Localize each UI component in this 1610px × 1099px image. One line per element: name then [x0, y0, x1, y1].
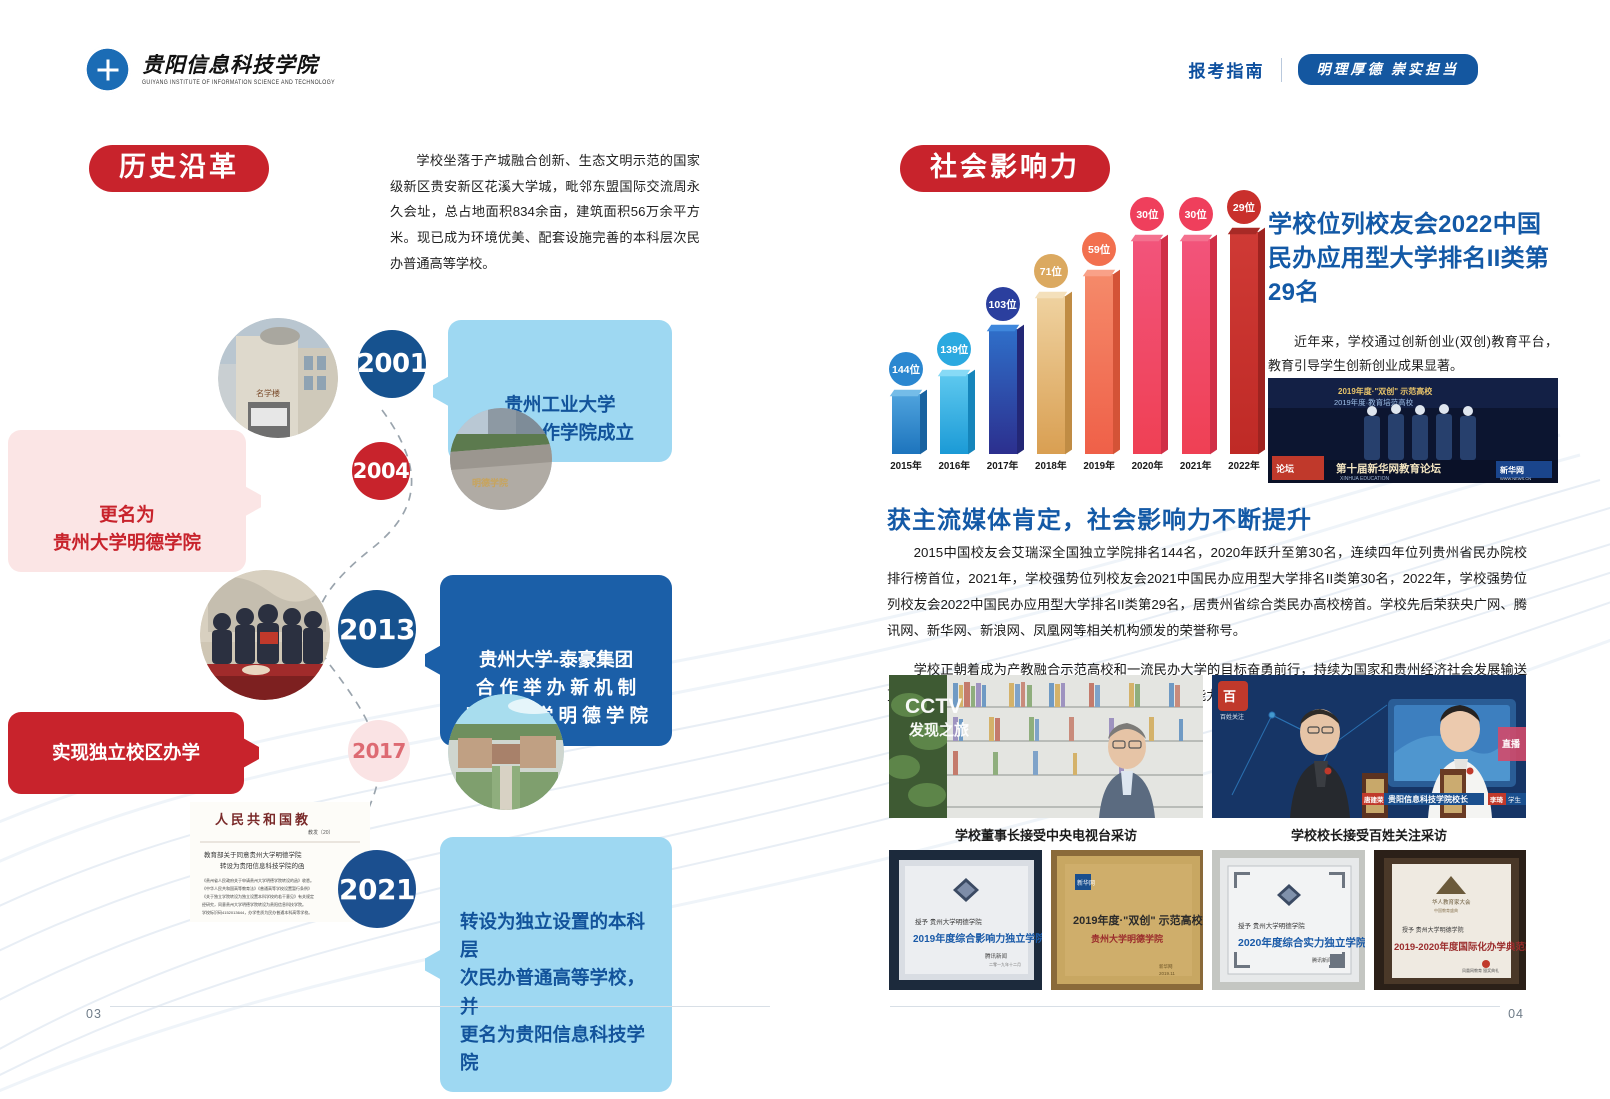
svg-text:腾讯新闻: 腾讯新闻: [1312, 957, 1332, 964]
timeline-text-2021: 转设为独立设置的本科层 次民办普通高等学校，并 更名为贵阳信息科技学院: [460, 911, 645, 1073]
chart-x-label: 2022年: [1223, 458, 1265, 480]
svg-text:CCTV: CCTV: [905, 695, 962, 718]
svg-text:《贵州省人民政府关于申请贵州大学明德学院转设的函》收悉。: 《贵州省人民政府关于申请贵州大学明德学院转设的函》收悉。: [202, 877, 314, 883]
svg-text:发现之旅: 发现之旅: [908, 721, 969, 739]
chart-bar-column: 30位: [1126, 224, 1168, 454]
svg-text:学校标识码4152013644，办学性质为民办普通本科高等学: 学校标识码4152013644，办学性质为民办普通本科高等学校。: [202, 909, 312, 915]
svg-text:XINHUA EDUCATION: XINHUA EDUCATION: [1340, 476, 1389, 482]
history-timeline: 名学楼 2001 贵州工业大学 国际合作学院成立 更名为 贵州大学明德学院 20…: [0, 300, 805, 950]
bar-3d: [1133, 239, 1161, 454]
svg-text:2019年度综合影响力独立学院: 2019年度综合影响力独立学院: [913, 932, 1042, 945]
timeline-year-2013: 2013: [339, 613, 415, 646]
tv-caption: 学校校长接受百姓关注采访: [1212, 825, 1526, 844]
svg-text:贵州大学明德学院: 贵州大学明德学院: [1091, 933, 1163, 944]
chart-data-label: 29位: [1227, 190, 1261, 224]
svg-text:二零一九年十二月: 二零一九年十二月: [989, 961, 1021, 967]
chart-data-label: 103位: [986, 287, 1020, 321]
svg-text:教发〔20〕: 教发〔20〕: [308, 829, 334, 836]
innovation-paragraph-text: 近年来，学校通过创新创业(双创)教育平台，教育引导学生创新创业成果显著。: [1268, 330, 1558, 378]
tv-caption: 学校董事长接受中央电视台采访: [889, 825, 1203, 844]
svg-text:新华网: 新华网: [1159, 963, 1173, 970]
timeline-node-2001: 2001: [358, 330, 426, 398]
svg-text:名学楼: 名学楼: [256, 388, 280, 398]
chart-bar-column: 59位: [1078, 224, 1120, 454]
svg-text:2019年度·"双创" 示范高校: 2019年度·"双创" 示范高校: [1338, 386, 1433, 396]
bar-3d: [989, 329, 1017, 454]
brochure-spread: 贵阳信息科技学院 GUIYANG INSTITUTE OF INFORMATIO…: [0, 0, 1610, 1099]
innovation-paragraph: 近年来，学校通过创新创业(双创)教育平台，教育引导学生创新创业成果显著。: [1268, 330, 1558, 378]
bar-3d: [1182, 239, 1210, 454]
svg-text:明德学院: 明德学院: [472, 477, 508, 488]
school-intro-text: 学校坐落于产城融合创新、生态文明示范的国家级新区贵安新区花溪大学城，毗邻东盟国际…: [390, 148, 700, 277]
svg-text:第十届新华网教育论坛: 第十届新华网教育论坛: [1336, 462, 1441, 475]
influence-section-heading: 社会影响力: [900, 145, 1110, 192]
left-page: 历史沿革 学校坐落于产城融合创新、生态文明示范的国家级新区贵安新区花溪大学城，毗…: [0, 0, 805, 1099]
chart-x-label: 2019年: [1078, 458, 1120, 480]
bar-3d: [1037, 296, 1065, 454]
certificate-item: 新华网 2019年度·"双创" 示范高校 贵州大学明德学院 新华网 2019.1…: [1051, 850, 1204, 990]
certificate-item: 华人教育家大会 中国教育盛典 授予 贵州大学明德学院 2019-2020年度国际…: [1374, 850, 1527, 990]
svg-text:论坛: 论坛: [1276, 463, 1294, 474]
right-page-number: 04: [1508, 1007, 1524, 1021]
bar-3d: [1230, 232, 1258, 454]
chart-x-label: 2015年: [885, 458, 927, 480]
guide-label: 报考指南: [1189, 57, 1265, 82]
ranking-bar-chart: 144位 139位: [885, 205, 1265, 480]
cert-line1: 授予 贵州大学明德学院: [915, 917, 982, 926]
svg-text:经研究，同意贵州大学明德学院转设为贵阳信息科技学院。: 经研究，同意贵州大学明德学院转设为贵阳信息科技学院。: [202, 901, 306, 907]
timeline-year-2017: 2017: [352, 739, 406, 763]
chart-bar-column: 71位: [1030, 224, 1072, 454]
chart-data-label: 30位: [1130, 197, 1164, 231]
svg-text:教育部关于同意贵州大学明德学院: 教育部关于同意贵州大学明德学院: [204, 850, 302, 859]
svg-text:2019.11: 2019.11: [1159, 971, 1175, 976]
svg-text:《关于独立学院转设为独立设置本科学校的若干意见》有关规定: 《关于独立学院转设为独立设置本科学校的若干意见》有关规定: [202, 893, 314, 899]
left-footer-rule: [110, 1006, 770, 1007]
svg-text:人民共和国教: 人民共和国教: [215, 812, 311, 827]
svg-text:授予 贵州大学明德学院: 授予 贵州大学明德学院: [1238, 921, 1305, 930]
tv-image-captions: 学校董事长接受中央电视台采访 学校校长接受百姓关注采访: [889, 825, 1526, 844]
svg-text:唐建荣: 唐建荣: [1364, 795, 1384, 804]
chart-data-label: 139位: [937, 332, 971, 366]
bar-3d: [892, 394, 920, 454]
timeline-year-2021: 2021: [339, 873, 415, 906]
svg-text:授予 贵州大学明德学院: 授予 贵州大学明德学院: [1402, 926, 1464, 934]
certificate-gallery: 授予 贵州大学明德学院 2019年度综合影响力独立学院 腾讯新闻 二零一九年十二…: [889, 850, 1526, 990]
timeline-node-2021: 2021: [338, 850, 416, 928]
timeline-node-2017: 2017: [348, 720, 410, 782]
chart-bars: 144位 139位: [885, 224, 1265, 454]
chart-bar-column: 29位: [1223, 224, 1265, 454]
media-paragraph-1: 2015中国校友会艾瑞深全国独立学院排名144名，2020年跃升至第30名，连续…: [887, 540, 1527, 644]
left-page-number: 03: [86, 1007, 102, 1021]
school-motto-badge: 明理厚德 崇实担当: [1298, 54, 1479, 85]
chart-data-label: 59位: [1082, 232, 1116, 266]
header-divider: [1281, 58, 1282, 82]
history-section-title: 历史沿革: [89, 145, 269, 192]
history-section-heading: 历史沿革: [89, 145, 269, 192]
timeline-text-2017: 实现独立校区办学: [52, 739, 200, 767]
svg-text:2019年度·"双创" 示范高校: 2019年度·"双创" 示范高校: [1073, 913, 1204, 927]
right-page: 社会影响力 144位 139位: [805, 0, 1610, 1099]
svg-text:凤凰网教育 颁奖典礼: 凤凰网教育 颁奖典礼: [1462, 967, 1499, 973]
cctv-watermark: CCTV 发现之旅: [905, 695, 969, 739]
tv-image-cctv: CCTV 发现之旅: [889, 675, 1203, 818]
page-header: 贵阳信息科技学院 GUIYANG INSTITUTE OF INFORMATIO…: [0, 46, 1610, 104]
timeline-photo-2001: 名学楼: [218, 318, 338, 438]
timeline-text-2004: 更名为 贵州大学明德学院: [53, 504, 201, 553]
timeline-bubble-2017: 实现独立校区办学: [8, 712, 244, 794]
chart-bar-column: 30位: [1175, 224, 1217, 454]
logo-text-block: 贵阳信息科技学院 GUIYANG INSTITUTE OF INFORMATIO…: [142, 54, 335, 85]
certificate-item: 授予 贵州大学明德学院 2020年度综合实力独立学院 腾讯新闻: [1212, 850, 1365, 990]
timeline-year-2004: 2004: [353, 459, 409, 483]
timeline-bubble-2004: 更名为 贵州大学明德学院: [8, 430, 246, 572]
svg-text:2020年度综合实力独立学院: 2020年度综合实力独立学院: [1238, 936, 1365, 949]
tv-interview-images: CCTV 发现之旅: [889, 675, 1526, 818]
svg-text:百姓关注: 百姓关注: [1220, 713, 1244, 721]
svg-text:2019-2020年度国际化办学典范高校: 2019-2020年度国际化办学典范高校: [1394, 941, 1527, 953]
timeline-photo-2017: [448, 694, 564, 810]
bar-3d: [1085, 274, 1113, 454]
timeline-node-2004: 2004: [352, 442, 410, 500]
logo-english-name: GUIYANG INSTITUTE OF INFORMATION SCIENCE…: [142, 79, 335, 87]
school-logo: 贵阳信息科技学院 GUIYANG INSTITUTE OF INFORMATIO…: [84, 46, 335, 93]
chart-bar-column: 139位: [933, 224, 975, 454]
timeline-photo-2004: 明德学院: [450, 408, 552, 510]
timeline-bubble-2021: 转设为独立设置的本科层 次民办普通高等学校，并 更名为贵阳信息科技学院: [440, 837, 672, 1092]
news-forum-photo: 2019年度·"双创" 示范高校 2019年度·教育培范高校 论坛: [1268, 378, 1558, 483]
logo-chinese-name: 贵阳信息科技学院: [142, 54, 335, 76]
header-right-group: 报考指南 明理厚德 崇实担当: [1189, 54, 1479, 85]
media-subheading: 获主流媒体肯定，社会影响力不断提升: [887, 500, 1312, 535]
svg-text:直播: 直播: [1502, 738, 1521, 749]
timeline-photo-2013: [200, 570, 330, 700]
svg-text:华人教育家大会: 华人教育家大会: [1432, 898, 1471, 906]
chart-data-label: 71位: [1034, 254, 1068, 288]
svg-text:《中华人民共和国高等教育法》《普通高等学校设置暂行条例》: 《中华人民共和国高等教育法》《普通高等学校设置暂行条例》: [202, 885, 312, 891]
svg-text:WWW.NEWS.CN: WWW.NEWS.CN: [1500, 476, 1531, 481]
svg-text:新华网: 新华网: [1500, 465, 1524, 475]
svg-text:新华网: 新华网: [1077, 879, 1095, 887]
chart-bar-column: 144位: [885, 224, 927, 454]
chart-data-label: 30位: [1179, 197, 1213, 231]
svg-text:李琦: 李琦: [1489, 795, 1504, 804]
school-intro-paragraph: 学校坐落于产城融合创新、生态文明示范的国家级新区贵安新区花溪大学城，毗邻东盟国际…: [390, 148, 700, 277]
ranking-headline: 学校位列校友会2022中国民办应用型大学排名II类第29名: [1268, 208, 1558, 310]
svg-text:学生: 学生: [1508, 795, 1522, 804]
chart-x-label: 2020年: [1126, 458, 1168, 480]
chart-x-label: 2017年: [982, 458, 1024, 480]
chart-x-label: 2018年: [1030, 458, 1072, 480]
chart-x-label: 2021年: [1175, 458, 1217, 480]
svg-text:中国教育盛典: 中国教育盛典: [1434, 907, 1458, 913]
svg-text:2019年度·教育培范高校: 2019年度·教育培范高校: [1334, 397, 1414, 407]
tv-image-baixingguanzhu: 百 百姓关注 唐建荣 贵阳信息科技学院校长 李琦 学生 直播: [1212, 675, 1526, 818]
timeline-node-2013: 2013: [338, 590, 416, 668]
chart-x-label: 2016年: [933, 458, 975, 480]
svg-text:贵阳信息科技学院校长: 贵阳信息科技学院校长: [1388, 794, 1469, 804]
school-seal-icon: [84, 46, 131, 93]
chart-bar-column: 103位: [982, 224, 1024, 454]
svg-text:腾讯新闻: 腾讯新闻: [985, 952, 1007, 960]
timeline-year-2001: 2001: [357, 349, 427, 379]
chart-x-axis-labels: 2015年 2016年 2017年 2018年 2019年 2020年 2021…: [885, 458, 1265, 480]
chart-data-label: 144位: [889, 352, 923, 386]
svg-text:转设为贵阳信息科技学院的函: 转设为贵阳信息科技学院的函: [220, 861, 305, 870]
svg-text:百: 百: [1223, 689, 1236, 704]
certificate-item: 授予 贵州大学明德学院 2019年度综合影响力独立学院 腾讯新闻 二零一九年十二…: [889, 850, 1042, 990]
influence-section-title: 社会影响力: [900, 145, 1110, 192]
right-footer-rule: [890, 1006, 1500, 1007]
bar-3d: [940, 374, 968, 454]
